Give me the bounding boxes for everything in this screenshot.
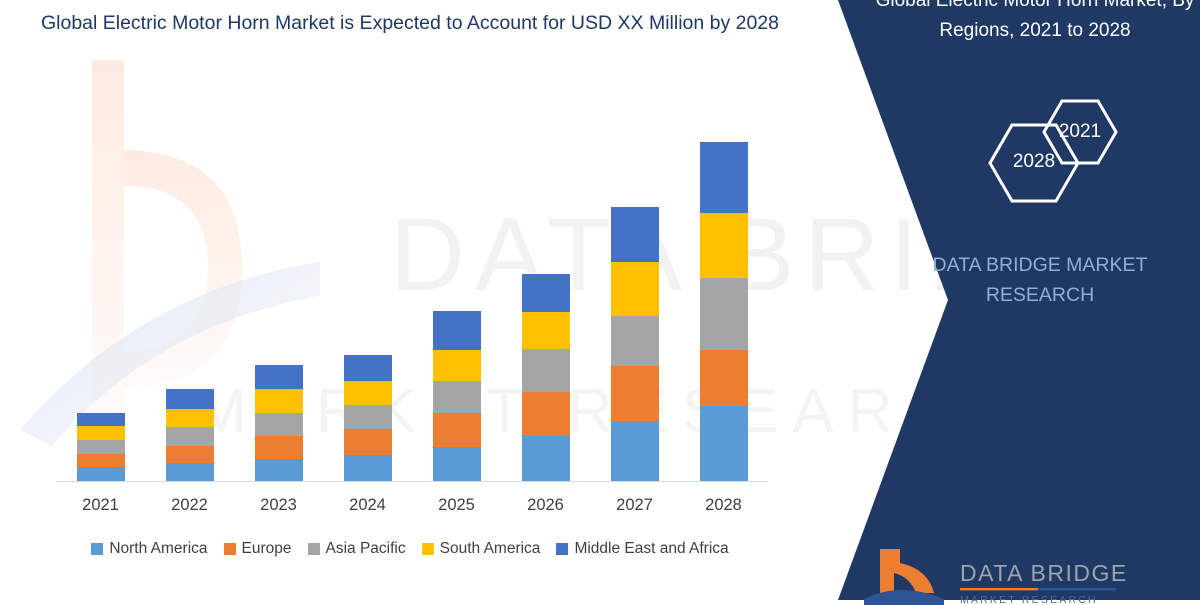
- bar-segment-north-america[interactable]: [611, 421, 659, 482]
- bar-column-2023[interactable]: [255, 365, 303, 482]
- bar-segment-europe[interactable]: [344, 429, 392, 454]
- legend-item-north-america[interactable]: North America: [91, 540, 207, 558]
- legend-item-europe[interactable]: Europe: [224, 540, 292, 558]
- brand-name: DATA BRIDGE MARKET RESEARCH: [875, 250, 1200, 310]
- bar-segment-asia-pacific[interactable]: [522, 349, 570, 392]
- x-tick-2024: 2024: [323, 496, 413, 515]
- plot-area: [56, 110, 768, 482]
- bar-segment-europe[interactable]: [166, 446, 214, 464]
- brand-name-line-1: DATA BRIDGE MARKET: [875, 250, 1200, 280]
- bar-segment-north-america[interactable]: [522, 436, 570, 482]
- bar-column-2026[interactable]: [522, 274, 570, 482]
- bar-segment-middle-east-and-africa[interactable]: [522, 274, 570, 312]
- bar-segment-europe[interactable]: [611, 366, 659, 422]
- bar-segment-south-america[interactable]: [433, 350, 481, 381]
- x-tick-2026: 2026: [501, 496, 591, 515]
- bar-segment-middle-east-and-africa[interactable]: [344, 355, 392, 381]
- bar-segment-middle-east-and-africa[interactable]: [700, 142, 748, 212]
- bar-column-2022[interactable]: [166, 389, 214, 482]
- chart-title: Global Electric Motor Horn Market is Exp…: [40, 8, 780, 38]
- legend-label: North America: [109, 540, 207, 558]
- bar-segment-europe[interactable]: [255, 436, 303, 459]
- legend-swatch-icon: [308, 543, 320, 555]
- bar-segment-asia-pacific[interactable]: [166, 427, 214, 446]
- legend-label: Europe: [242, 540, 292, 558]
- bar-segment-north-america[interactable]: [255, 459, 303, 482]
- chart-panel: Global Electric Motor Horn Market is Exp…: [0, 0, 820, 600]
- logo-text: DATA BRIDGE: [960, 560, 1128, 586]
- bar-segment-europe[interactable]: [77, 454, 125, 468]
- legend-item-asia-pacific[interactable]: Asia Pacific: [308, 540, 406, 558]
- logo-underline-blue: [1038, 588, 1116, 590]
- legend-swatch-icon: [556, 543, 568, 555]
- legend-swatch-icon: [224, 543, 236, 555]
- brand-name-line-2: RESEARCH: [875, 280, 1200, 310]
- bar-segment-north-america[interactable]: [166, 463, 214, 482]
- legend-item-south-america[interactable]: South America: [422, 540, 541, 558]
- x-axis-line: [56, 481, 768, 482]
- logo-bridge-mark-icon: [880, 549, 934, 593]
- x-tick-2023: 2023: [234, 496, 324, 515]
- bar-segment-europe[interactable]: [433, 413, 481, 446]
- logo-underline-orange: [960, 588, 1038, 590]
- legend-item-middle-east-and-africa[interactable]: Middle East and Africa: [556, 540, 728, 558]
- x-tick-2028: 2028: [679, 496, 769, 515]
- bar-column-2024[interactable]: [344, 355, 392, 482]
- bar-segment-middle-east-and-africa[interactable]: [77, 413, 125, 427]
- bar-segment-north-america[interactable]: [344, 455, 392, 482]
- legend-swatch-icon: [422, 543, 434, 555]
- legend-swatch-icon: [91, 543, 103, 555]
- bar-segment-north-america[interactable]: [433, 447, 481, 482]
- bar-column-2021[interactable]: [77, 413, 125, 482]
- brand-content: Global Electric Motor Horn Market, By Re…: [880, 0, 1200, 600]
- bar-segment-asia-pacific[interactable]: [700, 278, 748, 349]
- bar-segment-south-america[interactable]: [255, 389, 303, 412]
- bar-segment-middle-east-and-africa[interactable]: [166, 389, 214, 409]
- bar-segment-south-america[interactable]: [344, 381, 392, 404]
- data-bridge-logo: DATA BRIDGE MARKET RESEARCH: [838, 545, 1138, 605]
- bar-segment-middle-east-and-africa[interactable]: [255, 365, 303, 389]
- x-axis-tick-labels: 20212022202320242025202620272028: [56, 496, 768, 522]
- bar-segment-south-america[interactable]: [77, 426, 125, 440]
- legend-label: Asia Pacific: [326, 540, 406, 558]
- legend-label: Middle East and Africa: [574, 540, 728, 558]
- bar-segment-asia-pacific[interactable]: [344, 405, 392, 429]
- bar-column-2027[interactable]: [611, 207, 659, 482]
- bar-segment-europe[interactable]: [522, 392, 570, 436]
- bar-segment-south-america[interactable]: [700, 213, 748, 279]
- hexagon-2021-label: 2021: [1044, 121, 1116, 143]
- bar-segment-south-america[interactable]: [166, 409, 214, 428]
- hexagon-2028-label: 2028: [992, 151, 1076, 173]
- x-tick-2022: 2022: [145, 496, 235, 515]
- bar-segment-asia-pacific[interactable]: [433, 381, 481, 413]
- bar-column-2028[interactable]: [700, 142, 748, 482]
- bar-segment-north-america[interactable]: [77, 467, 125, 482]
- brand-panel-title: Global Electric Motor Horn Market, By Re…: [870, 0, 1200, 46]
- bar-column-2025[interactable]: [433, 311, 481, 482]
- x-tick-2021: 2021: [56, 496, 146, 515]
- bar-segment-north-america[interactable]: [700, 406, 748, 482]
- hexagon-badges: 2021 2028: [900, 95, 1160, 225]
- x-tick-2027: 2027: [590, 496, 680, 515]
- bar-segment-south-america[interactable]: [522, 312, 570, 349]
- chart-legend: North AmericaEuropeAsia PacificSouth Ame…: [40, 540, 780, 558]
- bar-segment-middle-east-and-africa[interactable]: [433, 311, 481, 350]
- x-tick-2025: 2025: [412, 496, 502, 515]
- bar-segment-south-america[interactable]: [611, 262, 659, 316]
- legend-label: South America: [440, 540, 541, 558]
- bar-segment-asia-pacific[interactable]: [611, 316, 659, 366]
- bar-segment-europe[interactable]: [700, 350, 748, 406]
- bar-segment-asia-pacific[interactable]: [77, 440, 125, 454]
- bar-segment-asia-pacific[interactable]: [255, 413, 303, 436]
- bar-segment-middle-east-and-africa[interactable]: [611, 207, 659, 262]
